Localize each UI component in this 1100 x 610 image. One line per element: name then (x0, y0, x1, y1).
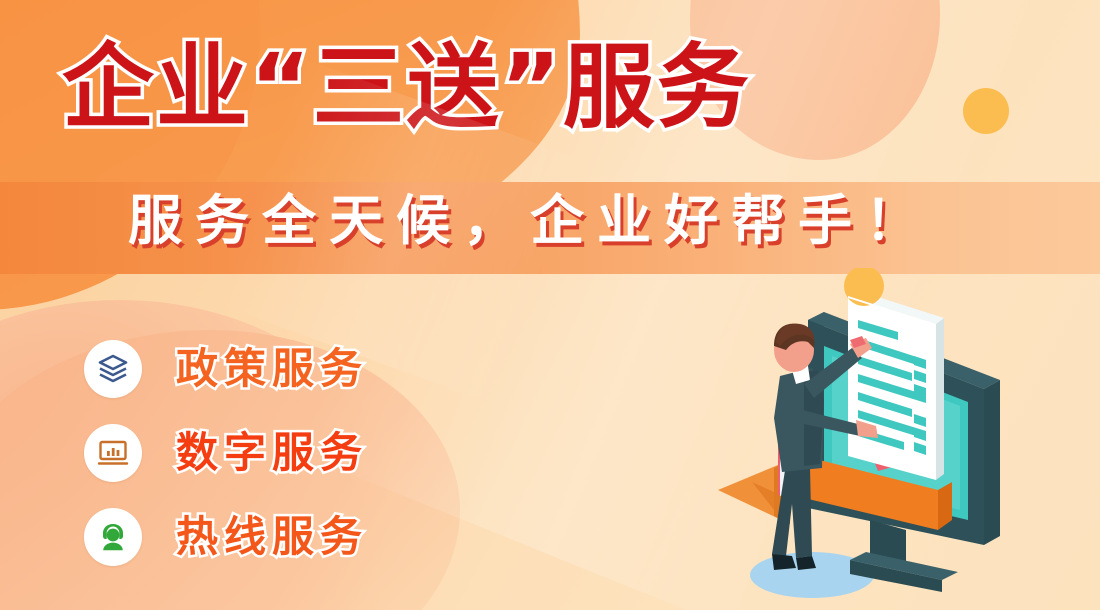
service-item-policy-label: 政策服务 (176, 348, 368, 390)
banner-subtitle: 服务全天候，企业好帮手！ (128, 194, 932, 248)
headset-support-icon (84, 508, 142, 566)
presentation-chart-icon (84, 424, 142, 482)
promo-banner: 企业“三送”服务 服务全天候，企业好帮手！ 政策服务 (0, 0, 1100, 610)
service-item-hotline[interactable]: 热线服务 (84, 506, 368, 568)
isometric-illustration (700, 268, 1100, 610)
gold-circle-decoration (963, 88, 1009, 134)
service-item-digital[interactable]: 数字服务 (84, 422, 368, 484)
document-checklist (848, 290, 944, 480)
service-list: 政策服务 数字服务 (84, 338, 368, 590)
service-item-hotline-label: 热线服务 (176, 516, 368, 558)
service-item-digital-label: 数字服务 (176, 432, 368, 474)
layers-icon (84, 340, 142, 398)
service-item-policy[interactable]: 政策服务 (84, 338, 368, 400)
